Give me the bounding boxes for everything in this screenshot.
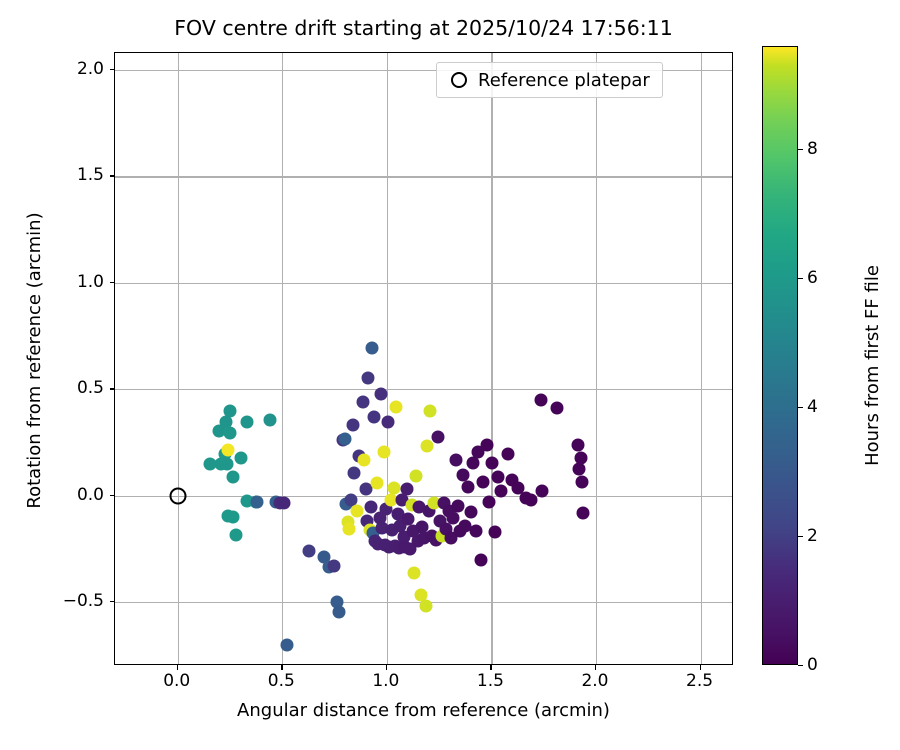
scatter-point bbox=[224, 404, 237, 417]
x-tick-mark bbox=[386, 665, 387, 670]
colorbar-tick-mark bbox=[798, 536, 803, 537]
y-tick-mark bbox=[110, 69, 115, 70]
scatter-point bbox=[277, 496, 290, 509]
colorbar-tick-label: 4 bbox=[807, 397, 818, 417]
colorbar-tick-label: 8 bbox=[807, 139, 818, 159]
gridline-horizontal bbox=[115, 176, 732, 177]
scatter-point bbox=[574, 451, 587, 464]
colorbar-gradient bbox=[762, 46, 798, 665]
x-tick-label: 1.0 bbox=[372, 671, 399, 691]
scatter-point bbox=[485, 457, 498, 470]
scatter-point bbox=[451, 499, 464, 512]
scatter-point bbox=[348, 467, 361, 480]
scatter-point bbox=[421, 439, 434, 452]
x-tick-label: 0.0 bbox=[163, 671, 190, 691]
scatter-point bbox=[377, 446, 390, 459]
scatter-point bbox=[424, 405, 437, 418]
y-tick-mark bbox=[110, 388, 115, 389]
scatter-point bbox=[449, 453, 462, 466]
scatter-point bbox=[223, 426, 236, 439]
scatter-point bbox=[226, 470, 239, 483]
x-tick-mark bbox=[700, 665, 701, 670]
scatter-point bbox=[571, 439, 584, 452]
scatter-point bbox=[240, 416, 253, 429]
gridline-horizontal bbox=[115, 496, 732, 497]
scatter-point bbox=[402, 513, 415, 526]
scatter-point bbox=[356, 396, 369, 409]
page-title: FOV centre drift starting at 2025/10/24 … bbox=[114, 16, 733, 40]
scatter-point bbox=[576, 475, 589, 488]
colorbar-tick-mark bbox=[798, 665, 803, 666]
x-axis-label: Angular distance from reference (arcmin) bbox=[114, 700, 733, 721]
scatter-point bbox=[367, 411, 380, 424]
scatter-point bbox=[495, 485, 508, 498]
y-tick-mark bbox=[110, 495, 115, 496]
scatter-point bbox=[572, 463, 585, 476]
plot-area bbox=[114, 52, 733, 665]
y-tick-mark bbox=[110, 175, 115, 176]
gridline-vertical bbox=[178, 53, 179, 664]
scatter-point bbox=[387, 482, 400, 495]
scatter-point bbox=[226, 511, 239, 524]
colorbar-tick-mark bbox=[798, 278, 803, 279]
scatter-point bbox=[469, 524, 482, 537]
scatter-point bbox=[221, 443, 234, 456]
x-tick-label: 2.0 bbox=[581, 671, 608, 691]
x-tick-label: 0.5 bbox=[268, 671, 295, 691]
scatter-point bbox=[328, 559, 341, 572]
gridline-vertical bbox=[387, 53, 388, 664]
scatter-point bbox=[343, 523, 356, 536]
scatter-point bbox=[447, 512, 460, 525]
colorbar-tick-mark bbox=[798, 149, 803, 150]
scatter-point bbox=[280, 638, 293, 651]
scatter-point bbox=[464, 506, 477, 519]
scatter-point bbox=[303, 544, 316, 557]
scatter-point bbox=[456, 468, 469, 481]
x-tick-mark bbox=[490, 665, 491, 670]
x-tick-mark bbox=[595, 665, 596, 670]
colorbar-tick-label: 0 bbox=[807, 655, 818, 675]
legend: Reference platepar bbox=[436, 62, 663, 98]
scatter-point bbox=[351, 504, 364, 517]
y-axis-label: Rotation from reference (arcmin) bbox=[24, 54, 45, 667]
gridline-vertical bbox=[701, 53, 702, 664]
scatter-point bbox=[408, 567, 421, 580]
scatter-point bbox=[375, 387, 388, 400]
x-tick-label: 2.5 bbox=[686, 671, 713, 691]
scatter-point bbox=[535, 485, 548, 498]
y-tick-mark bbox=[110, 282, 115, 283]
scatter-point bbox=[390, 401, 403, 414]
scatter-point bbox=[480, 438, 493, 451]
scatter-point bbox=[467, 457, 480, 470]
colorbar-tick-label: 6 bbox=[807, 268, 818, 288]
scatter-point bbox=[250, 496, 263, 509]
scatter-point bbox=[419, 600, 432, 613]
scatter-point bbox=[477, 475, 490, 488]
x-tick-label: 1.5 bbox=[477, 671, 504, 691]
y-tick-mark bbox=[110, 601, 115, 602]
scatter-point bbox=[366, 341, 379, 354]
scatter-point bbox=[577, 507, 590, 520]
scatter-point bbox=[381, 416, 394, 429]
scatter-point bbox=[339, 432, 352, 445]
scatter-point bbox=[492, 470, 505, 483]
scatter-point bbox=[501, 447, 514, 460]
scatter-point bbox=[358, 453, 371, 466]
scatter-point bbox=[483, 496, 496, 509]
scatter-point bbox=[488, 526, 501, 539]
colorbar: 02468 bbox=[762, 46, 798, 665]
scatter-point bbox=[264, 413, 277, 426]
scatter-point bbox=[474, 553, 487, 566]
scatter-point bbox=[333, 605, 346, 618]
colorbar-tick-label: 2 bbox=[807, 526, 818, 546]
gridline-vertical bbox=[491, 53, 492, 664]
scatter-point bbox=[370, 477, 383, 490]
scatter-point bbox=[432, 431, 445, 444]
scatter-point bbox=[524, 493, 537, 506]
gridline-horizontal bbox=[115, 283, 732, 284]
x-tick-mark bbox=[177, 665, 178, 670]
scatter-point bbox=[535, 394, 548, 407]
figure-canvas: FOV centre drift starting at 2025/10/24 … bbox=[0, 0, 900, 750]
legend-open-circle-icon bbox=[451, 72, 467, 88]
colorbar-label: Hours from first FF file bbox=[862, 56, 883, 675]
scatter-point bbox=[229, 529, 242, 542]
scatter-point bbox=[410, 470, 423, 483]
gridline-vertical bbox=[596, 53, 597, 664]
scatter-point bbox=[362, 372, 375, 385]
scatter-point bbox=[346, 419, 359, 432]
x-tick-mark bbox=[281, 665, 282, 670]
reference-platepar-marker bbox=[169, 487, 186, 504]
scatter-point bbox=[461, 481, 474, 494]
scatter-point bbox=[550, 402, 563, 415]
colorbar-tick-mark bbox=[798, 407, 803, 408]
scatter-point bbox=[400, 483, 413, 496]
gridline-vertical bbox=[282, 53, 283, 664]
legend-entry-label: Reference platepar bbox=[478, 70, 650, 91]
scatter-point bbox=[221, 457, 234, 470]
gridline-horizontal bbox=[115, 389, 732, 390]
scatter-point bbox=[235, 451, 248, 464]
